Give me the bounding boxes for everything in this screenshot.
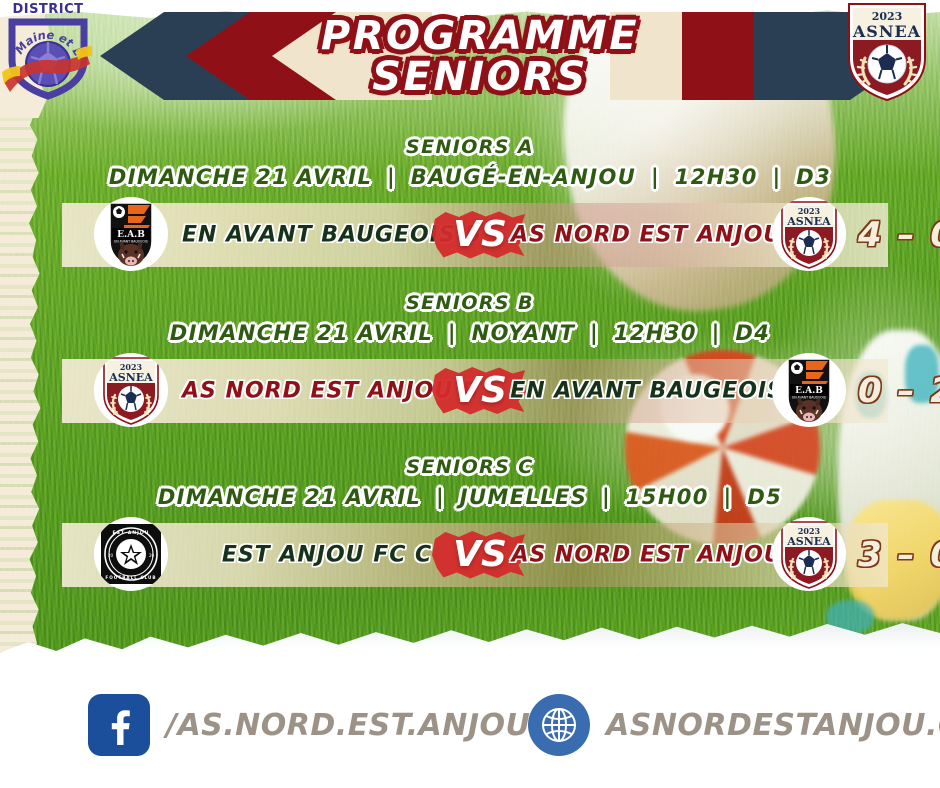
match-block-seniors-b: SENIORS B DIMANCHE 21 AVRIL | NOYANT | 1…	[0, 294, 940, 427]
info-separator: |	[767, 166, 788, 188]
match-date: DIMANCHE 21 AVRIL	[109, 165, 372, 189]
title-line-seniors: SENIORS	[372, 57, 588, 97]
svg-text:ASNEA: ASNEA	[786, 535, 831, 548]
district-word: DISTRICT	[12, 2, 83, 17]
versus-label: VS	[453, 534, 507, 575]
versus-label: VS	[453, 370, 507, 411]
poster-footer: /AS.NORD.EST.ANJOU ASNORDESTANJOU.COM	[0, 660, 940, 788]
asnea-shield-icon: 2023 ASNEA	[772, 517, 846, 591]
match-division: D3	[796, 165, 831, 189]
svg-text:E.A.B: E.A.B	[795, 386, 823, 396]
svg-text:FOOTBALL CLUB: FOOTBALL CLUB	[105, 575, 156, 580]
svg-text:ASNEA: ASNEA	[108, 371, 153, 384]
info-separator: |	[381, 166, 402, 188]
title-line-programme: PROGRAMME	[321, 16, 639, 56]
match-score: 4 – 0	[858, 215, 940, 255]
facebook-link[interactable]: /AS.NORD.EST.ANJOU	[88, 694, 530, 756]
match-time: 15H00	[626, 485, 709, 509]
category-label: SENIORS A	[0, 138, 940, 158]
info-separator: |	[706, 322, 727, 344]
match-time: 12H30	[614, 321, 697, 345]
asnea-name: ASNEA	[852, 22, 921, 41]
match-venue: BAUGÉ-EN-ANJOU	[411, 165, 636, 189]
info-separator: |	[596, 486, 617, 508]
match-division: D5	[747, 485, 782, 509]
facebook-handle[interactable]: /AS.NORD.EST.ANJOU	[166, 708, 530, 743]
match-info-line: DIMANCHE 21 AVRIL | NOYANT | 12H30 | D4	[0, 322, 940, 344]
svg-text:EN AVANT BAUGEOIS: EN AVANT BAUGEOIS	[114, 239, 148, 243]
match-info-line: DIMANCHE 21 AVRIL | BAUGÉ-EN-ANJOU | 12H…	[0, 166, 940, 188]
away-team-name: AS NORD EST ANJOU A	[510, 222, 810, 247]
poster-header: PROGRAMME SENIORS DISTRICT Maine et Loir…	[0, 0, 940, 112]
match-score: 3 – 0	[858, 535, 940, 575]
svg-text:EN AVANT BAUGEOIS: EN AVANT BAUGEOIS	[792, 395, 826, 399]
match-score: 0 – 2	[858, 371, 940, 411]
est-anjou-fc-icon: EST ANJOU FOOTBALL CLUB 20 20	[94, 517, 168, 591]
match-date: DIMANCHE 21 AVRIL	[158, 485, 421, 509]
svg-text:E.A.B: E.A.B	[117, 230, 145, 240]
match-info-line: DIMANCHE 21 AVRIL | JUMELLES | 15H00 | D…	[0, 486, 940, 508]
home-team-name: EN AVANT BAUGEOIS B	[182, 222, 472, 247]
match-block-seniors-c: SENIORS C DIMANCHE 21 AVRIL | JUMELLES |…	[0, 458, 940, 591]
info-separator: |	[442, 322, 463, 344]
info-separator: |	[430, 486, 451, 508]
home-team-name: EST ANJOU FC C	[182, 542, 472, 567]
match-division: D4	[735, 321, 770, 345]
away-team-name: EN AVANT BAUGEOIS C	[510, 378, 810, 403]
category-label: SENIORS B	[0, 294, 940, 314]
svg-text:20: 20	[149, 553, 155, 558]
match-venue: JUMELLES	[460, 485, 588, 509]
home-team-name: AS NORD EST ANJOU B	[182, 378, 472, 403]
versus-label: VS	[453, 214, 507, 255]
info-separator: |	[645, 166, 666, 188]
eab-boar-crest-icon: E.A.B EN AVANT BAUGEOIS	[772, 353, 846, 427]
asnea-shield-icon: 2023 ASNEA	[772, 197, 846, 271]
globe-icon[interactable]	[528, 694, 590, 756]
programme-poster: PROGRAMME SENIORS DISTRICT Maine et Loir…	[0, 0, 940, 788]
eab-boar-crest-icon: E.A.B EN AVANT BAUGEOIS	[94, 197, 168, 271]
svg-text:EST ANJOU: EST ANJOU	[113, 530, 150, 536]
match-row: EST ANJOU FOOTBALL CLUB 20 20 EST ANJOU …	[0, 519, 940, 591]
match-row: E.A.B EN AVANT BAUGEOIS EN AVANT BAUGEOI…	[0, 199, 940, 271]
info-separator: |	[718, 486, 739, 508]
away-team-name: AS NORD EST ANJOU C	[510, 542, 810, 567]
asnea-shield-icon: 2023 ASNEA	[94, 353, 168, 427]
match-date: DIMANCHE 21 AVRIL	[170, 321, 433, 345]
match-block-seniors-a: SENIORS A DIMANCHE 21 AVRIL | BAUGÉ-EN-A…	[0, 138, 940, 271]
website-link[interactable]: ASNORDESTANJOU.COM	[528, 694, 940, 756]
svg-text:20: 20	[108, 553, 114, 558]
match-time: 12H30	[675, 165, 758, 189]
category-label: SENIORS C	[0, 458, 940, 478]
match-row: 2023 ASNEA AS NORD EST ANJOU B VS EN AVA…	[0, 355, 940, 427]
info-separator: |	[584, 322, 605, 344]
website-url[interactable]: ASNORDESTANJOU.COM	[606, 708, 940, 743]
facebook-icon[interactable]	[88, 694, 150, 756]
district-maine-et-loire-logo: DISTRICT Maine et Loire	[0, 0, 98, 104]
match-venue: NOYANT	[472, 321, 576, 345]
poster-title: PROGRAMME SENIORS	[330, 0, 630, 112]
asnea-club-logo-header: 2023 ASNEA	[839, 0, 935, 104]
svg-text:ASNEA: ASNEA	[786, 215, 831, 228]
